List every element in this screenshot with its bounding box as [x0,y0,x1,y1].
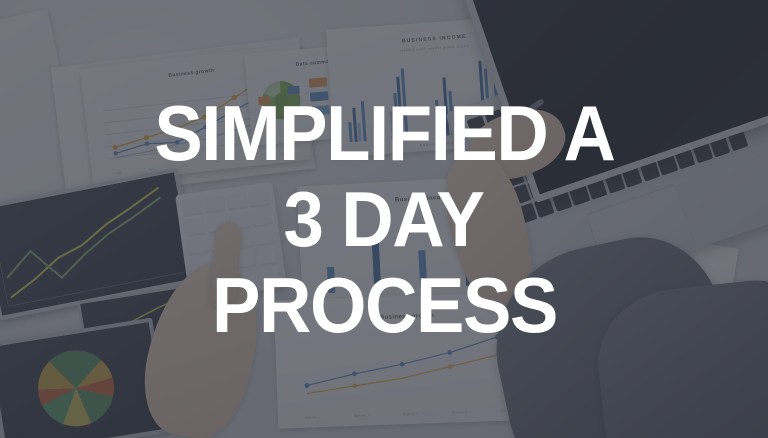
promo-banner: Business growth JanFebMarAprMayJun Data … [0,0,768,438]
headline-line-1: SIMPLIFIED A [154,90,614,176]
headline-line-2: 3 DAY [284,176,484,262]
headline-line-3: PROCESS [212,262,557,348]
headline-block: SIMPLIFIED A 3 DAY PROCESS [0,0,768,438]
